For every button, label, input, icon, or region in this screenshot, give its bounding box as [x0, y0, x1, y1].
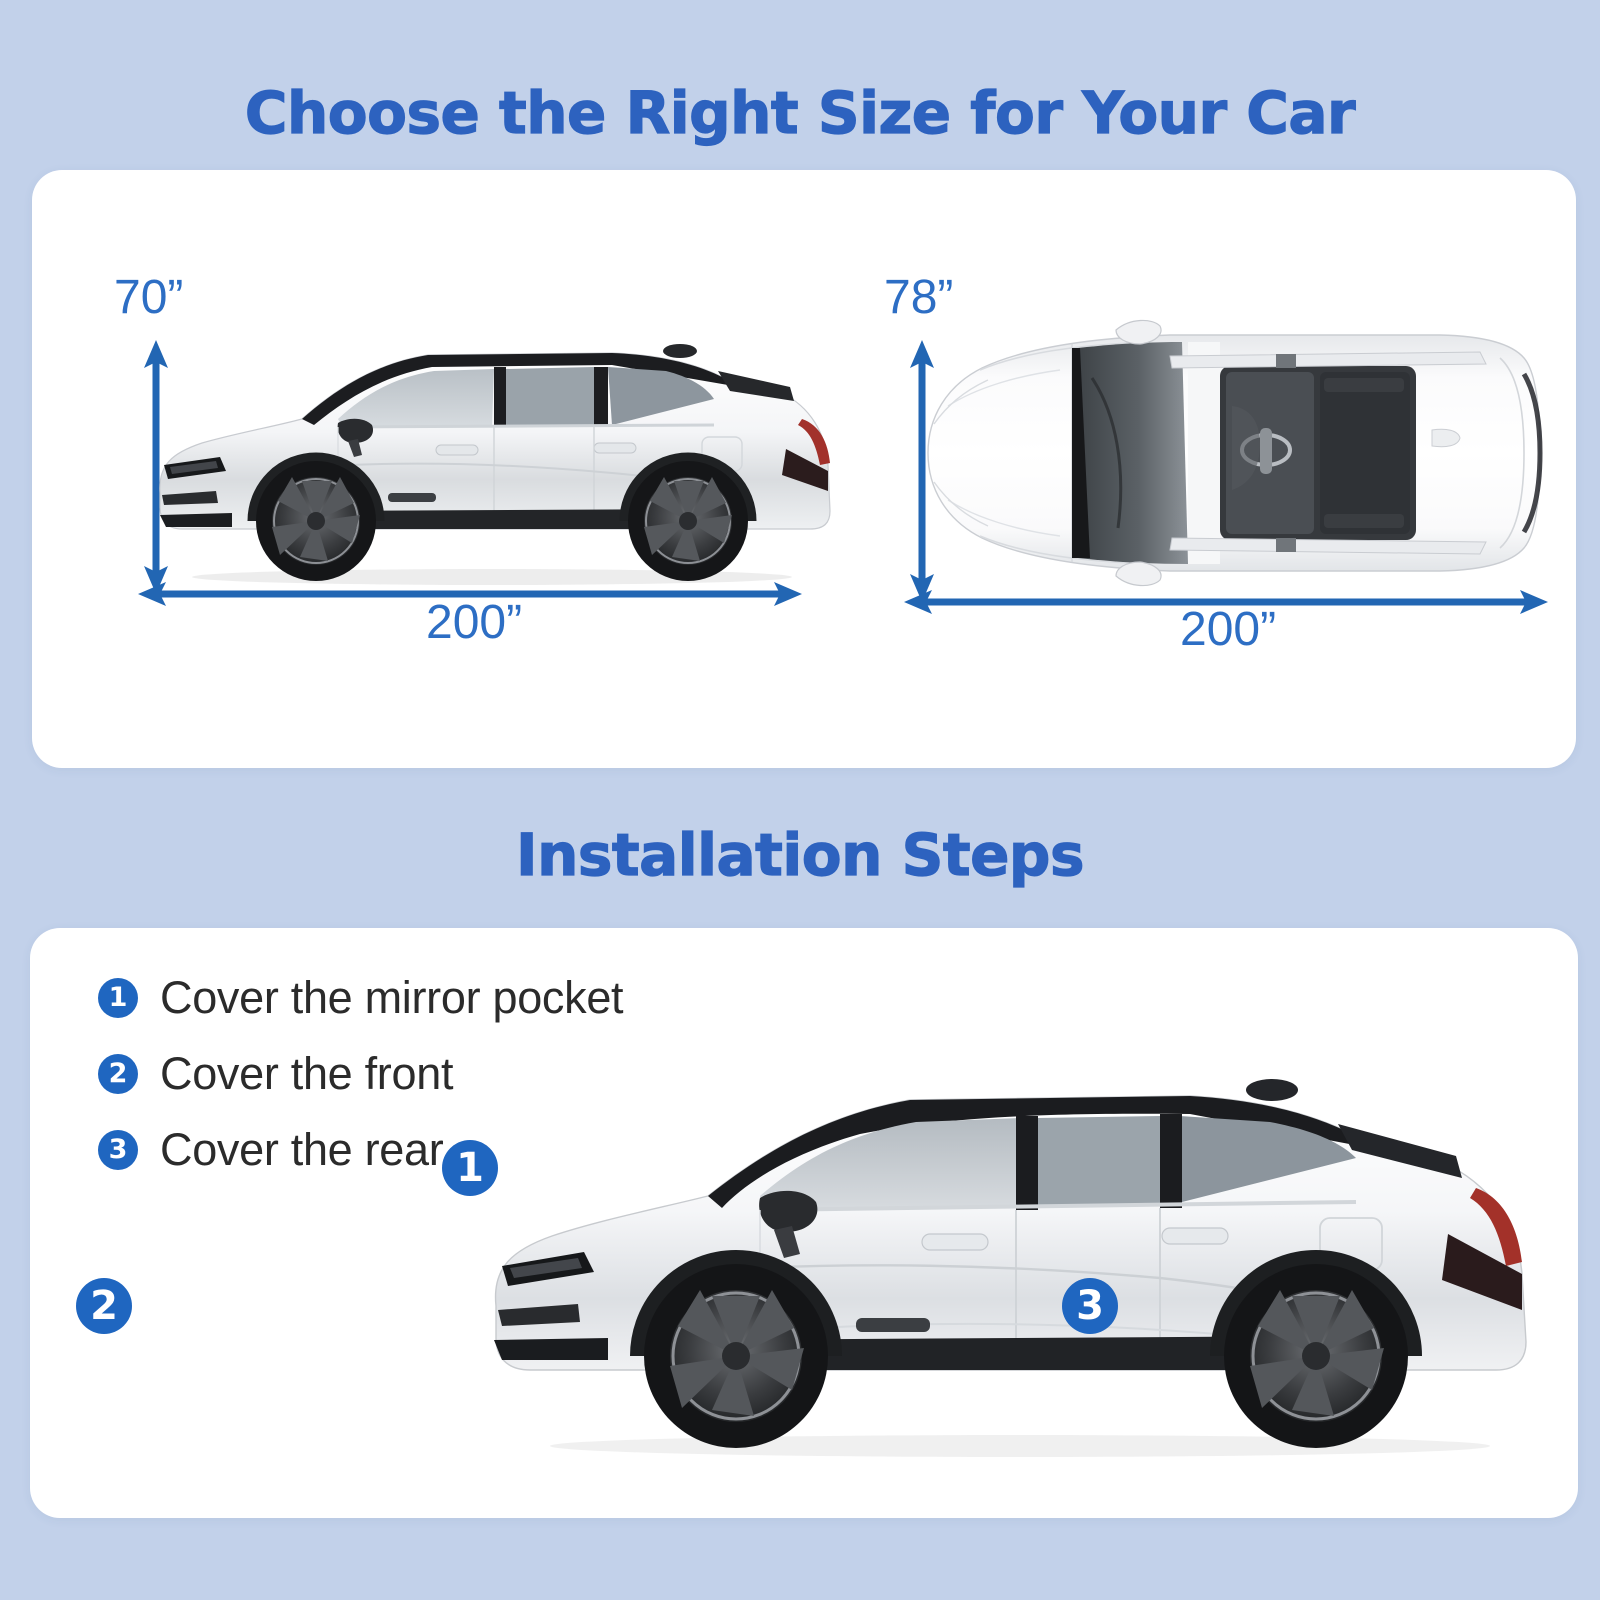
infographic-page: Choose the Right Size for Your Car 70”	[0, 0, 1600, 1600]
step-label: Cover the mirror pocket	[160, 972, 623, 1024]
step-number-badge: 3	[98, 1130, 138, 1170]
callout-badge-2[interactable]: 2	[76, 1278, 132, 1334]
top-view-width-label: 78”	[884, 270, 953, 325]
callout-badge-3[interactable]: 3	[1062, 1278, 1118, 1334]
step-label: Cover the front	[160, 1048, 453, 1100]
list-item: 1 Cover the mirror pocket	[98, 960, 798, 1036]
step-label: Cover the rear	[160, 1124, 443, 1176]
size-card: 70”	[32, 170, 1576, 768]
top-view-length-label: 200”	[1180, 602, 1276, 657]
car-side-view-illustration	[142, 315, 842, 595]
page-title-installation-steps: Installation Steps	[0, 820, 1600, 890]
list-item: 2 Cover the front	[98, 1036, 798, 1112]
car-top-view-illustration	[920, 318, 1550, 588]
side-view-length-label: 200”	[426, 595, 522, 650]
page-title-choose-size: Choose the Right Size for Your Car	[0, 78, 1600, 148]
step-number-badge: 1	[98, 978, 138, 1018]
callout-badge-1[interactable]: 1	[442, 1140, 498, 1196]
step-number-badge: 2	[98, 1054, 138, 1094]
